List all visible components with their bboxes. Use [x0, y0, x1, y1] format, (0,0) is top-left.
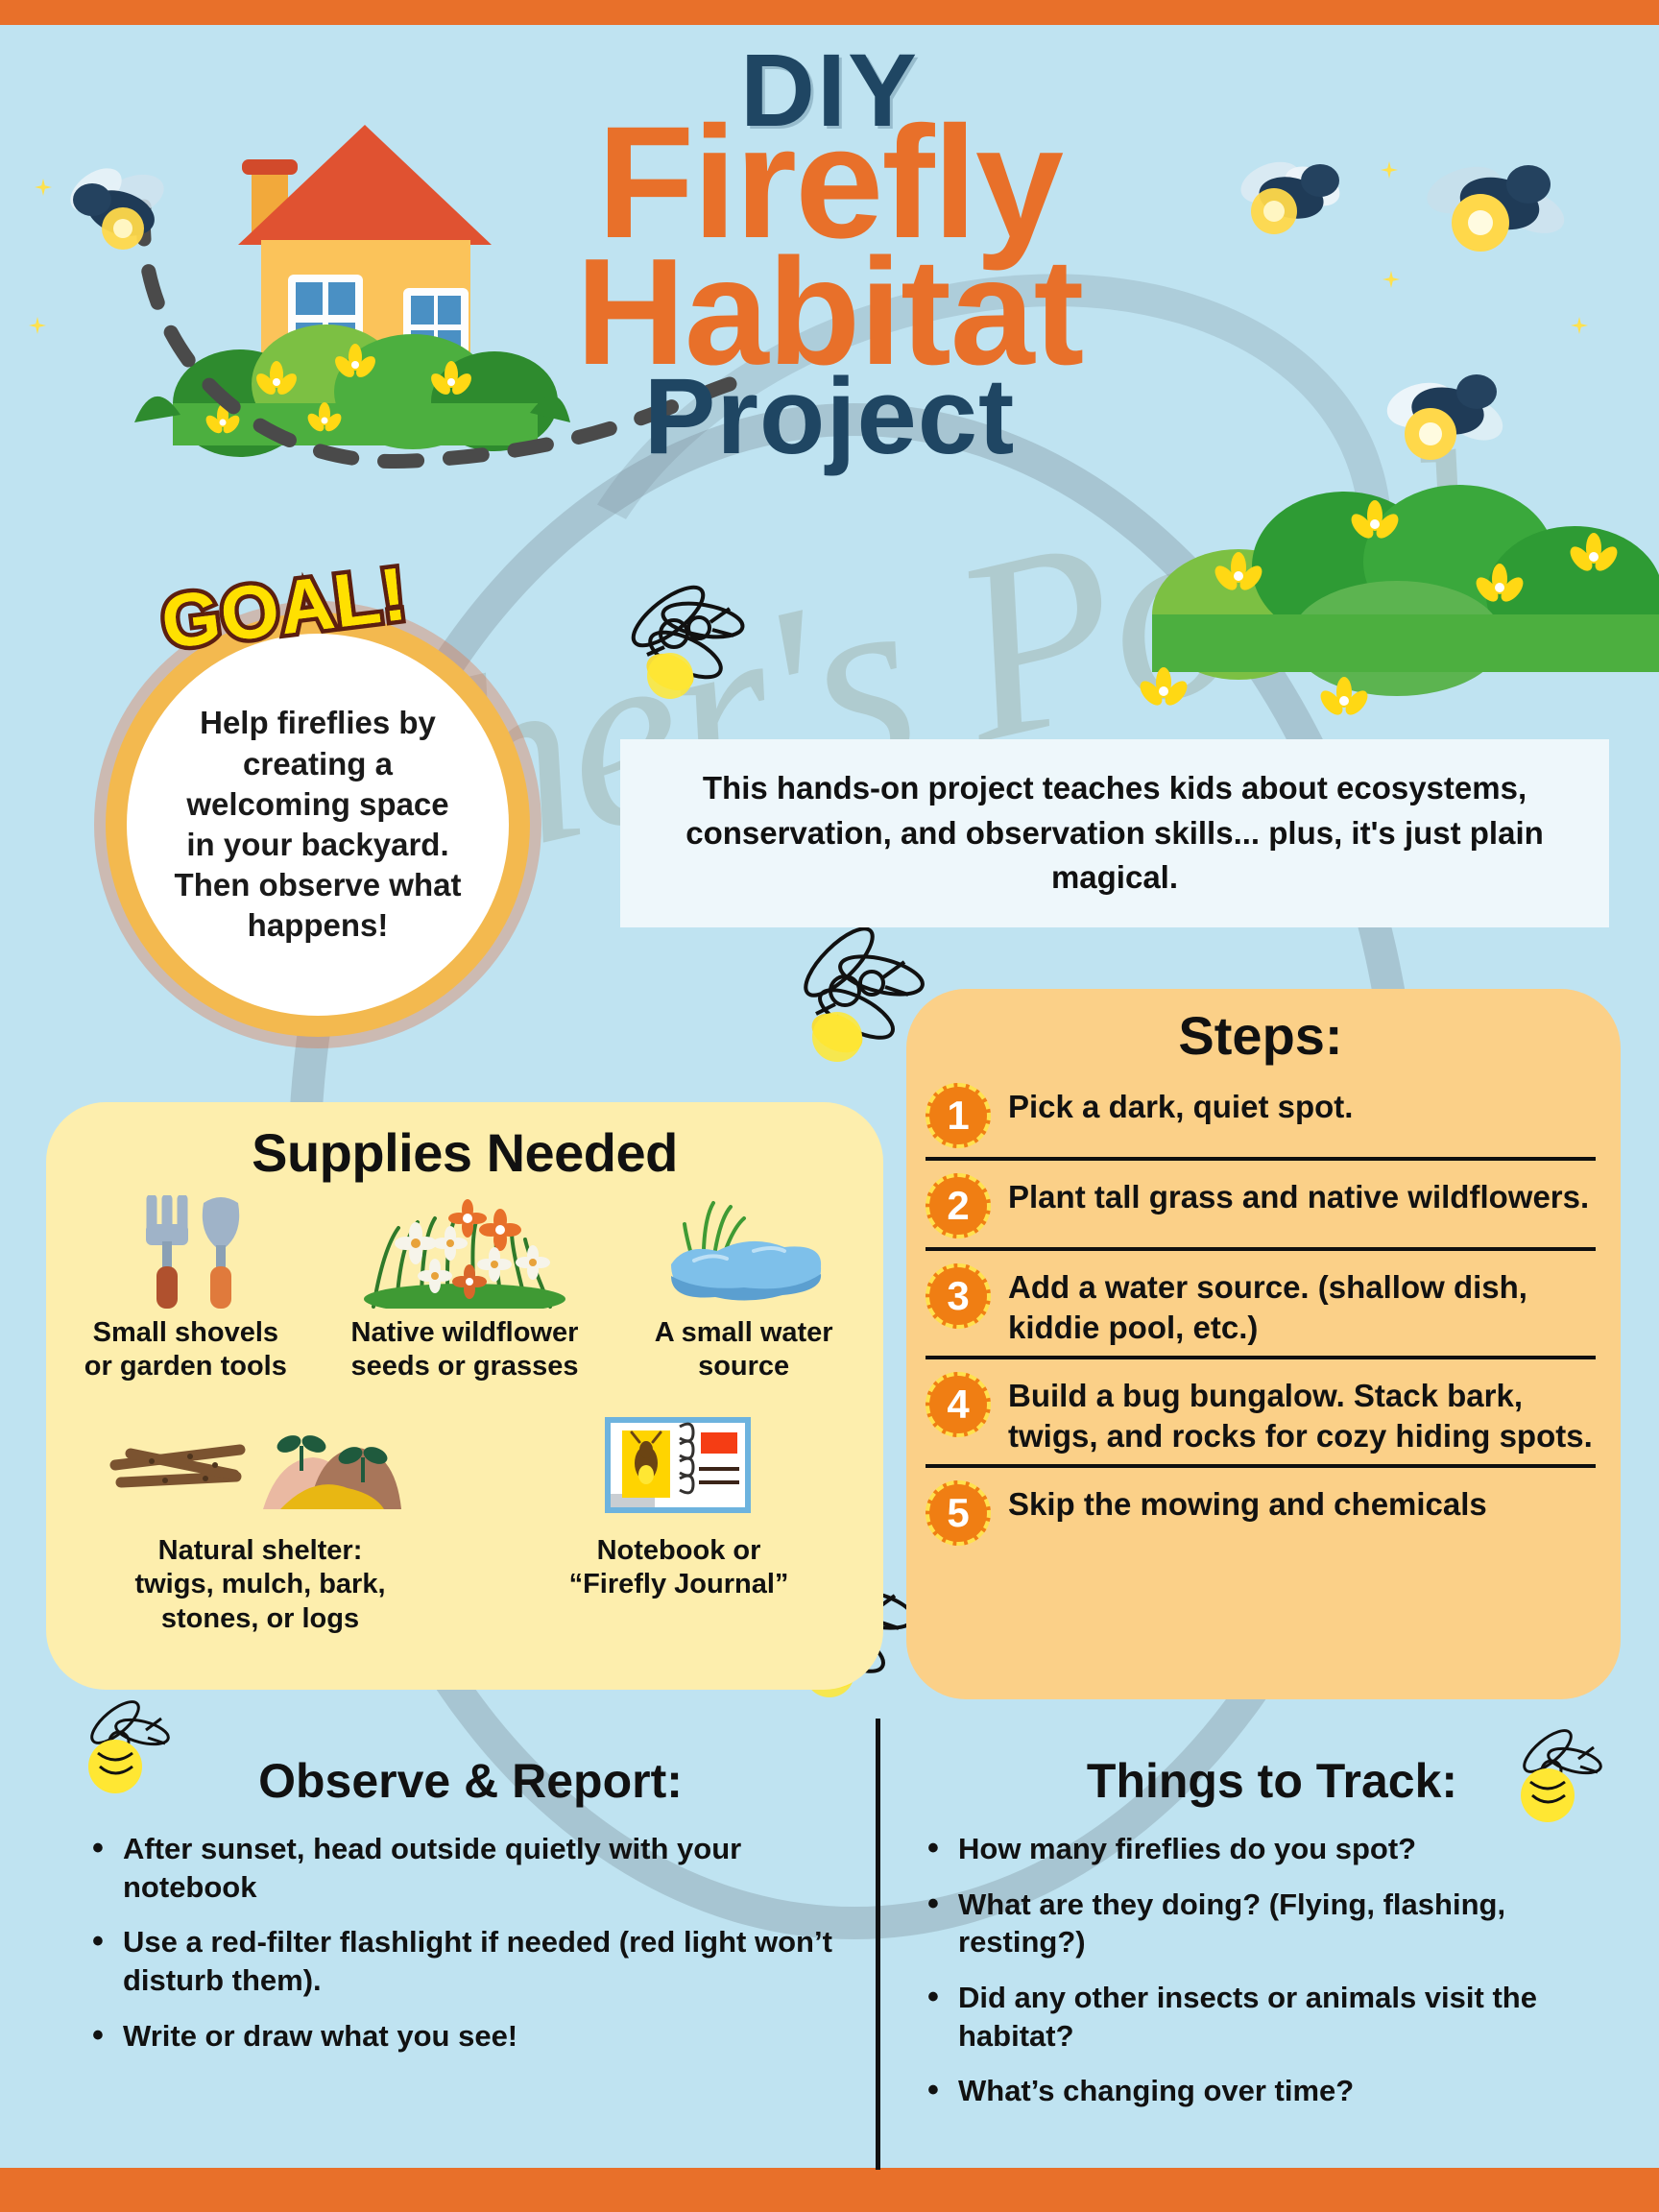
step-text: Plant tall grass and native wildflowers. [1008, 1169, 1589, 1217]
list-item: Write or draw what you see! [86, 2017, 854, 2056]
list-item: Did any other insects or animals visit t… [922, 1979, 1623, 2055]
step-text: Skip the mowing and chemicals [1008, 1477, 1487, 1525]
step-number-badge: 3 [926, 1263, 991, 1329]
list-item: How many fireflies do you spot? [922, 1830, 1623, 1868]
supply-label: Natural shelter: twigs, mulch, bark, sto… [78, 1534, 443, 1636]
goal-text: Help fireflies by creating a welcoming s… [174, 703, 462, 946]
list-item: What are they doing? (Flying, flashing, … [922, 1886, 1623, 1961]
observe-heading: Observe & Report: [86, 1753, 854, 1809]
supplies-heading: Supplies Needed [46, 1121, 883, 1184]
step-row: 5 Skip the mowing and chemicals [926, 1468, 1596, 1554]
supply-item: A small water source [614, 1193, 874, 1384]
supply-label: Small shovels or garden tools [56, 1316, 315, 1384]
list-item: What’s changing over time? [922, 2072, 1623, 2110]
intro-text: This hands-on project teaches kids about… [683, 766, 1547, 902]
notebook-icon [506, 1411, 852, 1527]
step-row: 2 Plant tall grass and native wildflower… [926, 1161, 1596, 1251]
things-to-track-section: Things to Track: How many fireflies do y… [922, 1753, 1623, 2128]
goal-circle: Help fireflies by creating a welcoming s… [127, 634, 509, 1016]
step-number-badge: 2 [926, 1173, 991, 1238]
wildflower-grass-icon [335, 1193, 594, 1309]
intro-panel: This hands-on project teaches kids about… [620, 739, 1609, 927]
list-item: Use a red-filter flashlight if needed (r… [86, 1923, 854, 1999]
supply-item: Native wildflower seeds or grasses [335, 1193, 594, 1384]
step-text: Add a water source. (shallow dish, kiddi… [1008, 1260, 1596, 1347]
step-row: 1 Pick a dark, quiet spot. [926, 1070, 1596, 1161]
poster-root: Esther's Porch [0, 0, 1659, 2212]
supply-label: Notebook or “Firefly Journal” [506, 1534, 852, 1602]
step-row: 4 Build a bug bungalow. Stack bark, twig… [926, 1359, 1596, 1468]
supply-label: A small water source [614, 1316, 874, 1384]
step-text: Pick a dark, quiet spot. [1008, 1079, 1353, 1127]
twigs-mulch-icon [78, 1411, 443, 1527]
steps-heading: Steps: [926, 1004, 1596, 1067]
step-number-badge: 1 [926, 1083, 991, 1148]
supply-item: Notebook or “Firefly Journal” [506, 1411, 852, 1636]
step-number-badge: 4 [926, 1372, 991, 1437]
poster-title: DIY Firefly Habitat Project [0, 40, 1659, 469]
step-text: Build a bug bungalow. Stack bark, twigs,… [1008, 1368, 1596, 1455]
observe-report-section: Observe & Report: After sunset, head out… [86, 1753, 854, 2072]
supply-item: Natural shelter: twigs, mulch, bark, sto… [78, 1411, 443, 1636]
title-line-project: Project [0, 366, 1659, 468]
track-heading: Things to Track: [922, 1753, 1623, 1809]
step-number-badge: 5 [926, 1480, 991, 1546]
supplies-panel: Supplies Needed [46, 1102, 883, 1690]
steps-panel: Steps: 1 Pick a dark, quiet spot. 2 Plan… [906, 989, 1621, 1699]
garden-tools-icon [56, 1193, 315, 1309]
right-bushes-illustration [1136, 485, 1659, 719]
column-divider [876, 1719, 880, 2170]
bottom-accent-bar [0, 2168, 1659, 2212]
supply-label: Native wildflower seeds or grasses [335, 1316, 594, 1384]
list-item: After sunset, head outside quietly with … [86, 1830, 854, 1906]
step-row: 3 Add a water source. (shallow dish, kid… [926, 1251, 1596, 1359]
water-pond-icon [614, 1193, 874, 1309]
supply-item: Small shovels or garden tools [56, 1193, 315, 1384]
track-list: How many fireflies do you spot? What are… [922, 1830, 1623, 2110]
observe-list: After sunset, head outside quietly with … [86, 1830, 854, 2055]
